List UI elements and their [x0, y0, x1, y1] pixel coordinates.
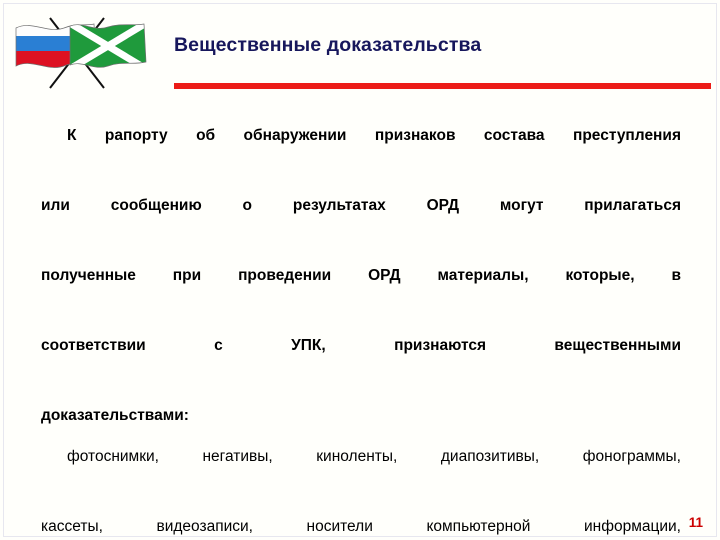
title-underline-rule — [174, 83, 711, 89]
paragraph-line: кассеты, видеозаписи, носители компьютер… — [41, 509, 681, 540]
page-number: 11 — [689, 515, 703, 530]
paragraph-primary: К рапорту об обнаружении признаков соста… — [41, 118, 681, 433]
paragraph-line: соответствии с УПК, признаются веществен… — [41, 328, 681, 398]
slide-body: К рапорту об обнаружении признаков соста… — [41, 118, 681, 540]
paragraph-line: доказательствами: — [41, 398, 681, 433]
paragraph-line: или сообщению о результатах ОРД могут пр… — [41, 188, 681, 258]
paragraph-line: К рапорту об обнаружении признаков соста… — [41, 118, 681, 188]
paragraph-list: фотоснимки, негативы, киноленты, диапози… — [41, 439, 681, 540]
presentation-slide: Вещественные доказательства К рапорту об… — [0, 0, 720, 540]
paragraph-line: полученные при проведении ОРД материалы,… — [41, 258, 681, 328]
crossed-flags-icon — [8, 12, 158, 92]
page-title: Вещественные доказательства — [174, 34, 714, 57]
slide-header: Вещественные доказательства — [0, 0, 720, 108]
paragraph-line: фотоснимки, негативы, киноленты, диапози… — [41, 439, 681, 509]
